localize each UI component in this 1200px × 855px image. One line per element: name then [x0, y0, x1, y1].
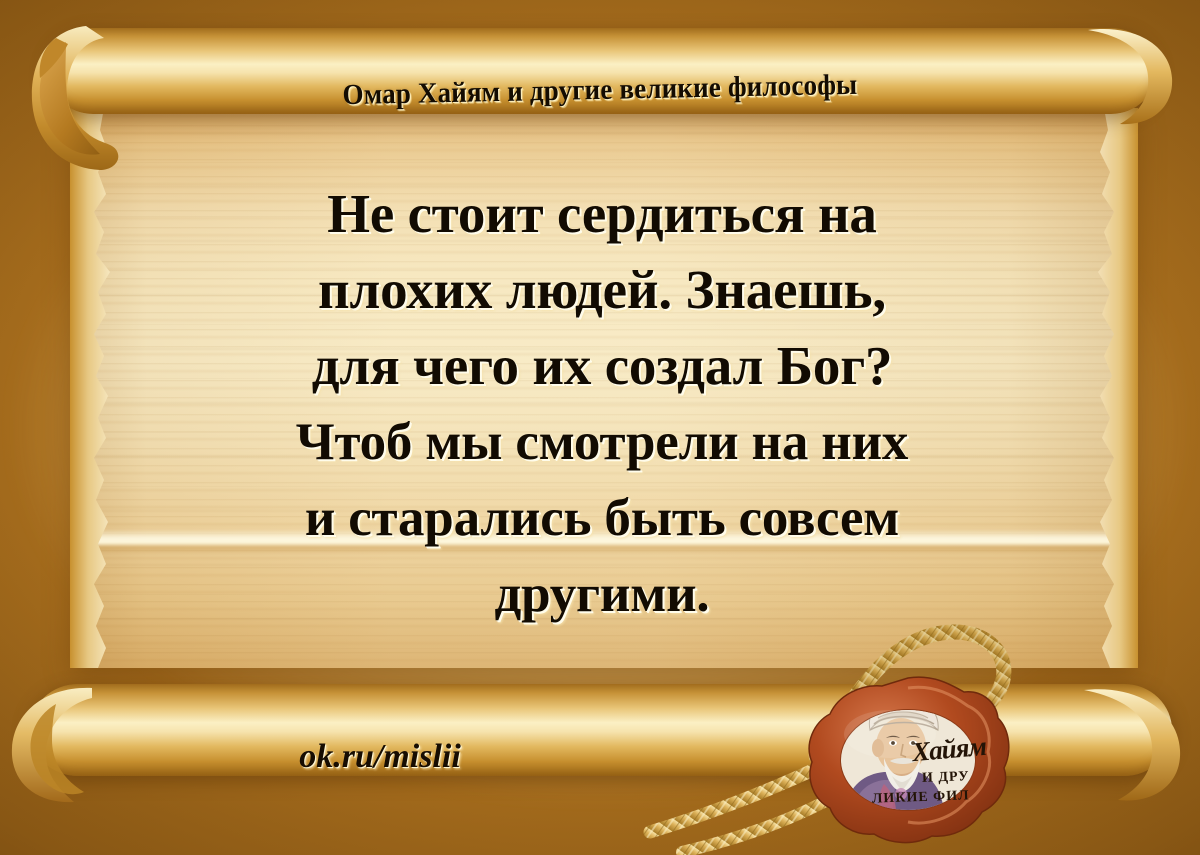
- quote-line: Чтоб мы смотрели на них: [92, 404, 1112, 480]
- quote-line: для чего их создал Бог?: [92, 328, 1112, 404]
- quote-line: другими.: [92, 556, 1112, 632]
- footer-url-text: ok.ru/mislii: [0, 738, 760, 776]
- scroll-quote-card: Омар Хайям и другие великие философы Не …: [0, 0, 1200, 855]
- wax-seal: Хайям И ДРУ ЛИКИЕ ФИЛ: [800, 672, 1015, 847]
- quote-line: Не стоит сердиться на: [92, 176, 1112, 252]
- wax-seal-icon: [800, 672, 1015, 847]
- quote-line: и старались быть совсем: [92, 480, 1112, 556]
- quote-block: Не стоит сердиться на плохих людей. Знае…: [92, 176, 1112, 632]
- quote-line: плохих людей. Знаешь,: [92, 252, 1112, 328]
